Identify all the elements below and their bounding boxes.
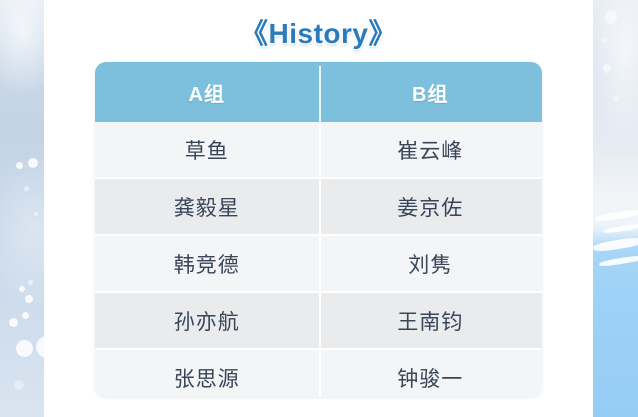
table-row: 张思源 钟骏一 <box>95 350 542 397</box>
streak-decoration <box>593 236 638 253</box>
cell-a-4: 孙亦航 <box>95 293 319 348</box>
cell-a-5: 张思源 <box>95 350 319 397</box>
left-decorative-strip <box>0 0 44 417</box>
history-table: A组 B组 草鱼 崔云峰 龚毅星 姜京佐 韩竞德 刘隽 孙亦航 王南钧 张思源 … <box>95 62 542 397</box>
bubble-decoration <box>16 340 33 357</box>
cell-b-3: 刘隽 <box>319 236 543 291</box>
column-header-a: A组 <box>95 62 319 122</box>
bubble-decoration <box>9 318 18 327</box>
bubble-decoration <box>605 10 617 24</box>
table-row: 龚毅星 姜京佐 <box>95 179 542 234</box>
cell-b-4: 王南钧 <box>319 293 543 348</box>
screenshot-root: 《History》 A组 B组 草鱼 崔云峰 龚毅星 姜京佐 韩竞德 刘隽 孙亦… <box>0 0 638 417</box>
right-decorative-strip <box>593 0 638 417</box>
bubble-decoration <box>613 96 619 102</box>
bubble-decoration <box>24 186 29 191</box>
table-row: 草鱼 崔云峰 <box>95 122 542 177</box>
bubble-decoration <box>22 312 29 319</box>
table-row: 韩竞德 刘隽 <box>95 236 542 291</box>
bubble-decoration <box>34 212 38 216</box>
page-title: 《History》 <box>240 12 397 52</box>
cell-b-5: 钟骏一 <box>319 350 543 397</box>
streak-decoration <box>599 255 638 268</box>
cell-b-2: 姜京佐 <box>319 179 543 234</box>
bubble-decoration <box>19 286 25 292</box>
streak-decoration <box>603 223 638 234</box>
page-title-container: 《History》 <box>44 8 593 56</box>
streak-decoration <box>595 208 638 222</box>
bubble-decoration <box>16 162 23 169</box>
cell-a-2: 龚毅星 <box>95 179 319 234</box>
bubble-decoration <box>28 280 33 285</box>
cell-a-3: 韩竞德 <box>95 236 319 291</box>
cell-a-1: 草鱼 <box>95 122 319 177</box>
bubble-decoration <box>603 64 611 73</box>
table-header-row: A组 B组 <box>95 62 542 122</box>
bubble-decoration <box>601 38 606 43</box>
bubble-decoration <box>14 380 24 390</box>
column-header-b: B组 <box>319 62 543 122</box>
bubble-decoration <box>25 295 33 303</box>
cell-b-1: 崔云峰 <box>319 122 543 177</box>
table-row: 孙亦航 王南钧 <box>95 293 542 348</box>
bubble-decoration <box>28 158 38 168</box>
bubble-decoration <box>36 336 44 358</box>
